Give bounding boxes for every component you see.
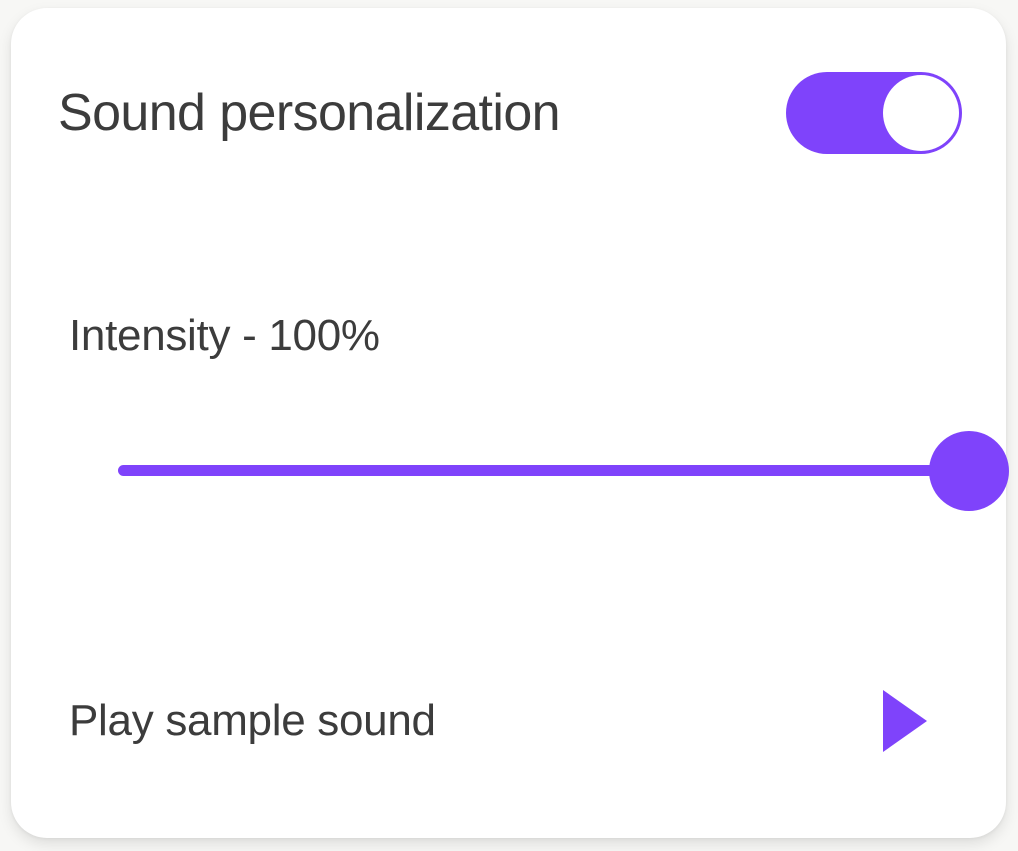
toggle-knob xyxy=(883,75,959,151)
screen-root: Sound personalization Intensity - 100% P… xyxy=(0,0,1018,851)
slider-track[interactable] xyxy=(118,465,969,476)
play-sample-sound-label: Play sample sound xyxy=(69,688,436,754)
intensity-label: Intensity - 100% xyxy=(69,311,380,361)
page-title: Sound personalization xyxy=(58,64,560,162)
slider-track-fill xyxy=(118,465,969,476)
intensity-slider[interactable] xyxy=(118,431,969,511)
play-sample-sound-row[interactable]: Play sample sound xyxy=(69,688,962,754)
sound-personalization-card: Sound personalization Intensity - 100% P… xyxy=(11,8,1006,838)
card-header: Sound personalization xyxy=(58,64,962,162)
slider-thumb[interactable] xyxy=(929,431,1009,511)
sound-personalization-toggle[interactable] xyxy=(786,72,962,154)
play-triangle-icon[interactable] xyxy=(881,688,929,754)
